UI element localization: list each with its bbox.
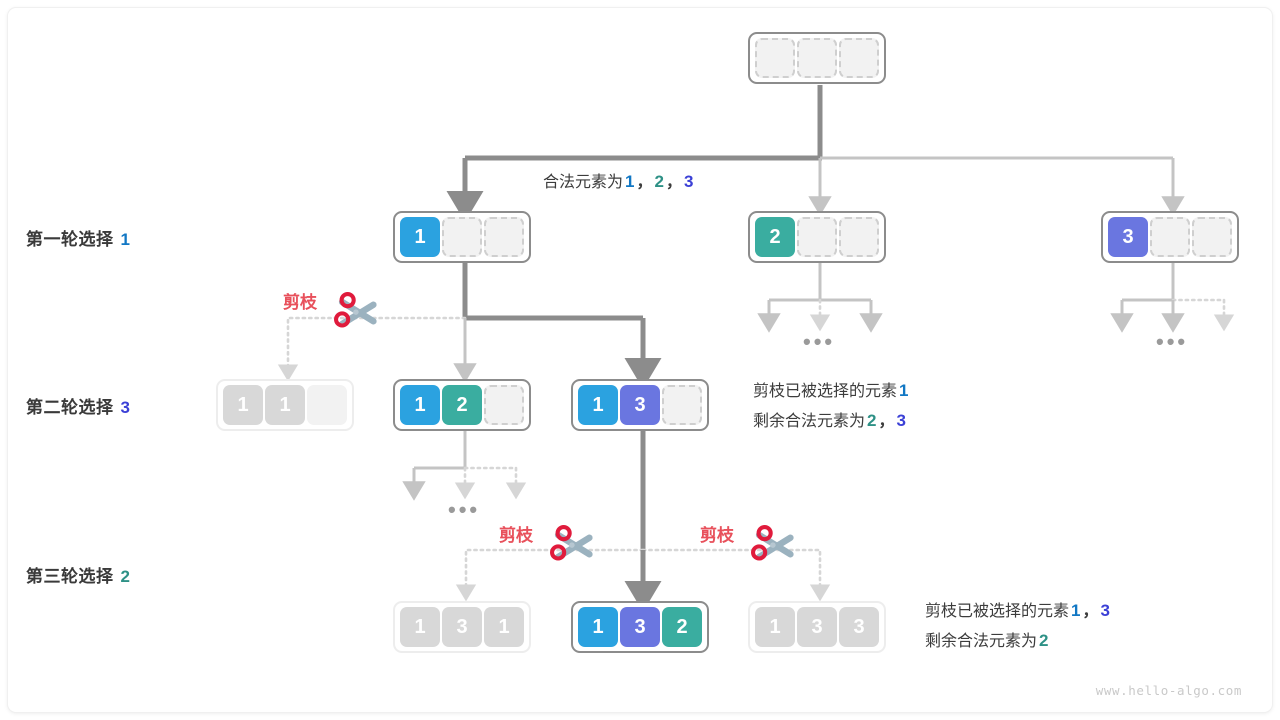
cell-132-2: 2 [662, 607, 702, 647]
annotation-row2-line2-value-2: 3 [897, 411, 906, 430]
cell-1-0: 1 [400, 217, 440, 257]
annotation-row2-line2-sep: ， [878, 413, 894, 430]
node-1-2[interactable]: 1 2 [393, 379, 531, 431]
annotation-row3-line1-value-1: 1 [1071, 601, 1080, 620]
cell-root-0 [755, 38, 795, 78]
annotation-row2-line2: 剩余合法元素为2，3 [753, 406, 910, 436]
cell-2-2 [839, 217, 879, 257]
cell-2-0: 2 [755, 217, 795, 257]
watermark: www.hello-algo.com [1096, 683, 1242, 698]
annotation-row3-line1: 剪枝已被选择的元素1，3 [925, 596, 1112, 626]
ellipsis-under-12: ••• [448, 505, 480, 515]
edge-label-prefix: 合法元素为 [543, 174, 623, 191]
annotation-row3-line1-value-2: 3 [1101, 601, 1110, 620]
row-label-round-2-value: 3 [121, 398, 131, 417]
row-label-round-3-text: 第三轮选择 [26, 567, 114, 586]
node-1[interactable]: 1 [393, 211, 531, 263]
cell-133-2: 3 [839, 607, 879, 647]
cell-11-0: 1 [223, 385, 263, 425]
cell-3-0: 3 [1108, 217, 1148, 257]
node-1-3[interactable]: 1 3 [571, 379, 709, 431]
ellipsis-under-3: ••• [1156, 337, 1188, 347]
cell-133-0: 1 [755, 607, 795, 647]
annotation-row2-line2-prefix: 剩余合法元素为 [753, 413, 865, 430]
cell-3-2 [1192, 217, 1232, 257]
cell-131-2: 1 [484, 607, 524, 647]
diagram-canvas: 第一轮选择1 第二轮选择3 第三轮选择2 合法元素为1，2，3 1 2 3 1 … [0, 0, 1280, 720]
cell-12-1: 2 [442, 385, 482, 425]
node-root[interactable] [748, 32, 886, 84]
cell-13-0: 1 [578, 385, 618, 425]
cell-12-0: 1 [400, 385, 440, 425]
annotation-row3: 剪枝已被选择的元素1，3 剩余合法元素为2 [925, 596, 1112, 656]
annotation-row2-line2-value-1: 2 [867, 411, 876, 430]
ellipsis-under-2: ••• [803, 337, 835, 347]
edge-label-value-2: 2 [655, 172, 664, 191]
cell-3-1 [1150, 217, 1190, 257]
cell-root-1 [797, 38, 837, 78]
row-label-round-3-value: 2 [121, 567, 131, 586]
cell-13-1: 3 [620, 385, 660, 425]
annotation-row2: 剪枝已被选择的元素1 剩余合法元素为2，3 [753, 376, 910, 436]
edge-label-value-3: 3 [684, 172, 693, 191]
node-1-3-2[interactable]: 1 3 2 [571, 601, 709, 653]
cell-13-2 [662, 385, 702, 425]
cell-133-1: 3 [797, 607, 837, 647]
prune-label-1: 剪枝 [283, 288, 317, 313]
edge-label-value-1: 1 [625, 172, 634, 191]
row-label-round-1-text: 第一轮选择 [26, 230, 114, 249]
edge-label-valid-elements: 合法元素为1，2，3 [543, 167, 695, 197]
prune-label-3: 剪枝 [700, 521, 734, 546]
annotation-row2-line1-value-1: 1 [899, 381, 908, 400]
row-label-round-3: 第三轮选择2 [26, 562, 130, 587]
cell-11-2 [307, 385, 347, 425]
row-label-round-1-value: 1 [121, 230, 131, 249]
cell-131-1: 3 [442, 607, 482, 647]
cell-1-1 [442, 217, 482, 257]
prune-label-2: 剪枝 [499, 521, 533, 546]
cell-2-1 [797, 217, 837, 257]
annotation-row3-line2-prefix: 剩余合法元素为 [925, 633, 1037, 650]
node-1-1-pruned[interactable]: 1 1 [216, 379, 354, 431]
node-1-3-3-pruned[interactable]: 1 3 3 [748, 601, 886, 653]
cell-root-2 [839, 38, 879, 78]
annotation-row3-line1-prefix: 剪枝已被选择的元素 [925, 603, 1069, 620]
cell-12-2 [484, 385, 524, 425]
annotation-row2-line1: 剪枝已被选择的元素1 [753, 376, 910, 406]
annotation-row3-line2: 剩余合法元素为2 [925, 626, 1112, 656]
node-1-3-1-pruned[interactable]: 1 3 1 [393, 601, 531, 653]
cell-11-1: 1 [265, 385, 305, 425]
annotation-row2-line1-prefix: 剪枝已被选择的元素 [753, 383, 897, 400]
annotation-row3-line1-sep: ， [1082, 603, 1098, 620]
edge-label-sep-1: ， [636, 174, 652, 191]
node-3[interactable]: 3 [1101, 211, 1239, 263]
row-label-round-1: 第一轮选择1 [26, 225, 130, 250]
node-2[interactable]: 2 [748, 211, 886, 263]
cell-1-2 [484, 217, 524, 257]
annotation-row3-line2-value-1: 2 [1039, 631, 1048, 650]
cell-132-1: 3 [620, 607, 660, 647]
edge-label-sep-2: ， [666, 174, 682, 191]
row-label-round-2: 第二轮选择3 [26, 393, 130, 418]
row-label-round-2-text: 第二轮选择 [26, 398, 114, 417]
cell-131-0: 1 [400, 607, 440, 647]
cell-132-0: 1 [578, 607, 618, 647]
